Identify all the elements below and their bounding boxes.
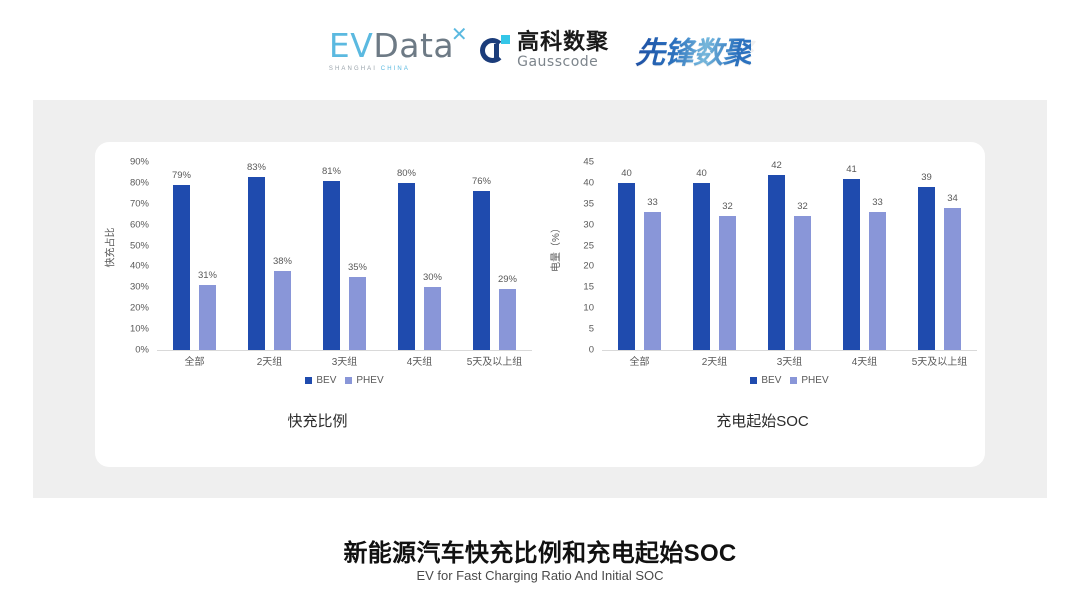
chart-0-bar-phev[interactable]: 35%: [349, 277, 366, 350]
chart-1-y-tick-labels: 051015202530354045: [564, 162, 598, 350]
chart-1-bar-phev[interactable]: 32: [794, 216, 811, 350]
chart-1-y-tick: 30: [583, 219, 594, 230]
legend-swatch-icon: [345, 377, 352, 384]
slide-root: EVData✕ SHANGHAI CHINA 高科数聚 Gausscode 先锋…: [0, 0, 1080, 608]
chart-0-y-tick: 80%: [130, 177, 149, 188]
chart-0-bar-value-label: 30%: [423, 272, 442, 283]
chart-1-bar-value-label: 40: [696, 168, 707, 179]
chart-0-x-tick: 3天组: [307, 353, 382, 368]
chart-0-plot-area: 0%10%20%30%40%50%60%70%80%90% 79%31%83%3…: [119, 162, 532, 350]
chart-0-y-tick: 30%: [130, 282, 149, 293]
chart-1-legend-item-bev[interactable]: BEV: [750, 375, 781, 386]
chart-0-bar-value-label: 38%: [273, 256, 292, 267]
chart-0-bar-bev[interactable]: 81%: [323, 181, 340, 350]
gausscode-logo: 高科数聚 Gausscode: [480, 31, 609, 69]
xianfeng-logo: 先锋数聚: [635, 28, 751, 72]
chart-1-bar-value-label: 34: [947, 193, 958, 204]
chart-1-x-tick: 2天组: [677, 353, 752, 368]
chart-1-bar-bev[interactable]: 39: [918, 187, 935, 350]
chart-1-bar-bev[interactable]: 40: [618, 183, 635, 350]
evdata-logo: EVData✕ SHANGHAI CHINA: [329, 29, 454, 72]
evdata-tagline: SHANGHAI CHINA: [329, 66, 410, 72]
evdata-x-icon: ✕: [451, 24, 468, 44]
chart-1-legend-label: PHEV: [801, 375, 828, 386]
chart-1-plot-area: 051015202530354045 40334032423241333934: [564, 162, 977, 350]
chart-1-caption: 充电起始SOC: [540, 410, 985, 431]
chart-1-x-tick: 3天组: [752, 353, 827, 368]
chart-1-x-tick: 4天组: [827, 353, 902, 368]
chart-1-y-axis-title-text: 电量（%）: [547, 223, 562, 272]
chart-initial-soc: 电量（%） 051015202530354045 403340324232413…: [540, 150, 985, 450]
chart-1-bar-value-label: 33: [647, 197, 658, 208]
page-title: 新能源汽车快充比例和充电起始SOC: [0, 533, 1080, 568]
chart-1-group: 4133: [827, 162, 902, 350]
page-subtitle: EV for Fast Charging Ratio And Initial S…: [0, 568, 1080, 583]
chart-1-y-tick: 15: [583, 282, 594, 293]
chart-0-bar-phev[interactable]: 29%: [499, 289, 516, 350]
gausscode-bar-shape: [494, 44, 499, 58]
chart-0-y-tick: 0%: [135, 345, 149, 356]
chart-1-bar-value-label: 32: [797, 201, 808, 212]
chart-0-x-tick-labels: 全部2天组3天组4天组5天及以上组: [157, 353, 532, 368]
chart-0-x-tick: 4天组: [382, 353, 457, 368]
chart-1-y-tick: 40: [583, 177, 594, 188]
chart-1-group: 4232: [752, 162, 827, 350]
chart-1-y-tick: 25: [583, 240, 594, 251]
evdata-data-text: Data: [373, 26, 454, 65]
gausscode-cn-name: 高科数聚: [517, 31, 609, 53]
legend-swatch-icon: [750, 377, 757, 384]
chart-0-bar-value-label: 35%: [348, 262, 367, 273]
chart-1-bar-bev[interactable]: 41: [843, 179, 860, 350]
chart-1-bar-value-label: 41: [846, 164, 857, 175]
chart-0-bar-bev[interactable]: 79%: [173, 185, 190, 350]
chart-0-bar-value-label: 79%: [172, 170, 191, 181]
chart-1-bar-value-label: 32: [722, 201, 733, 212]
gausscode-en-name: Gausscode: [517, 55, 609, 69]
chart-1-bar-phev[interactable]: 33: [869, 212, 886, 350]
chart-0-group: 76%29%: [457, 162, 532, 350]
gausscode-square-shape: [501, 35, 510, 44]
logo-bar: EVData✕ SHANGHAI CHINA 高科数聚 Gausscode 先锋…: [0, 24, 1080, 76]
chart-1-bar-value-label: 40: [621, 168, 632, 179]
chart-0-x-tick: 2天组: [232, 353, 307, 368]
chart-1-group: 4032: [677, 162, 752, 350]
chart-1-y-axis-title: 电量（%）: [546, 150, 562, 345]
chart-1-y-tick: 5: [589, 324, 594, 335]
chart-1-y-tick: 20: [583, 261, 594, 272]
chart-0-bar-value-label: 83%: [247, 162, 266, 173]
chart-0-y-tick: 40%: [130, 261, 149, 272]
chart-1-bar-bev[interactable]: 40: [693, 183, 710, 350]
chart-0-bar-phev[interactable]: 38%: [274, 271, 291, 350]
gausscode-text: 高科数聚 Gausscode: [517, 31, 609, 69]
chart-1-bar-phev[interactable]: 33: [644, 212, 661, 350]
evdata-wordmark: EVData✕: [329, 29, 454, 62]
chart-0-bar-phev[interactable]: 31%: [199, 285, 216, 350]
chart-1-y-tick: 10: [583, 303, 594, 314]
chart-1-x-tick: 全部: [602, 353, 677, 368]
legend-swatch-icon: [790, 377, 797, 384]
chart-0-bar-phev[interactable]: 30%: [424, 287, 441, 350]
chart-fast-charging-ratio: 快充占比 0%10%20%30%40%50%60%70%80%90% 79%31…: [95, 150, 540, 450]
chart-0-group: 79%31%: [157, 162, 232, 350]
chart-0-bar-bev[interactable]: 76%: [473, 191, 490, 350]
chart-1-bar-value-label: 33: [872, 197, 883, 208]
chart-0-legend-label: PHEV: [356, 375, 383, 386]
chart-0-y-tick-labels: 0%10%20%30%40%50%60%70%80%90%: [119, 162, 153, 350]
chart-1-y-tick: 35: [583, 198, 594, 209]
chart-1-group: 3934: [902, 162, 977, 350]
evdata-ev-text: EV: [329, 26, 373, 65]
chart-0-legend-item-bev[interactable]: BEV: [305, 375, 336, 386]
chart-0-bar-bev[interactable]: 83%: [248, 177, 265, 350]
chart-1-bar-groups: 40334032423241333934: [602, 162, 977, 350]
chart-0-legend-label: BEV: [316, 375, 336, 386]
chart-1-y-tick: 0: [589, 345, 594, 356]
chart-0-group: 80%30%: [382, 162, 457, 350]
chart-1-grid-area: 40334032423241333934: [602, 162, 977, 351]
chart-0-legend-item-phev[interactable]: PHEV: [345, 375, 383, 386]
chart-1-y-tick: 45: [583, 157, 594, 168]
chart-1-group: 4033: [602, 162, 677, 350]
chart-0-bar-value-label: 76%: [472, 176, 491, 187]
chart-0-y-tick: 50%: [130, 240, 149, 251]
evdata-tagline-shanghai: SHANGHAI: [329, 66, 381, 72]
chart-0-y-tick: 60%: [130, 219, 149, 230]
chart-1-x-tick-labels: 全部2天组3天组4天组5天及以上组: [602, 353, 977, 368]
chart-0-y-axis-title-text: 快充占比: [102, 228, 117, 268]
chart-0-bar-value-label: 80%: [397, 168, 416, 179]
chart-0-grid-area: 79%31%83%38%81%35%80%30%76%29%: [157, 162, 532, 351]
charts-container: 快充占比 0%10%20%30%40%50%60%70%80%90% 79%31…: [95, 150, 985, 450]
chart-0-y-tick: 10%: [130, 324, 149, 335]
chart-0-y-axis-title: 快充占比: [101, 150, 117, 345]
gausscode-mark-icon: [480, 35, 510, 65]
chart-0-bar-value-label: 31%: [198, 270, 217, 281]
chart-0-group: 81%35%: [307, 162, 382, 350]
chart-0-legend: BEVPHEV: [157, 375, 532, 386]
chart-0-bar-groups: 79%31%83%38%81%35%80%30%76%29%: [157, 162, 532, 350]
evdata-tagline-china: CHINA: [381, 66, 410, 72]
legend-swatch-icon: [305, 377, 312, 384]
chart-0-bar-value-label: 29%: [498, 274, 517, 285]
chart-0-group: 83%38%: [232, 162, 307, 350]
chart-0-x-tick: 全部: [157, 353, 232, 368]
chart-1-bar-phev[interactable]: 34: [944, 208, 961, 350]
chart-0-bar-bev[interactable]: 80%: [398, 183, 415, 350]
chart-0-y-tick: 90%: [130, 157, 149, 168]
chart-1-bar-value-label: 42: [771, 160, 782, 171]
chart-1-legend-label: BEV: [761, 375, 781, 386]
chart-1-x-tick: 5天及以上组: [902, 353, 977, 368]
chart-0-y-tick: 20%: [130, 303, 149, 314]
chart-1-bar-value-label: 39: [921, 172, 932, 183]
chart-0-x-tick: 5天及以上组: [457, 353, 532, 368]
chart-1-legend-item-phev[interactable]: PHEV: [790, 375, 828, 386]
chart-1-legend: BEVPHEV: [602, 375, 977, 386]
chart-0-caption: 快充比例: [95, 410, 540, 431]
chart-1-bar-phev[interactable]: 32: [719, 216, 736, 350]
chart-1-bar-bev[interactable]: 42: [768, 175, 785, 350]
chart-0-y-tick: 70%: [130, 198, 149, 209]
chart-0-bar-value-label: 81%: [322, 166, 341, 177]
